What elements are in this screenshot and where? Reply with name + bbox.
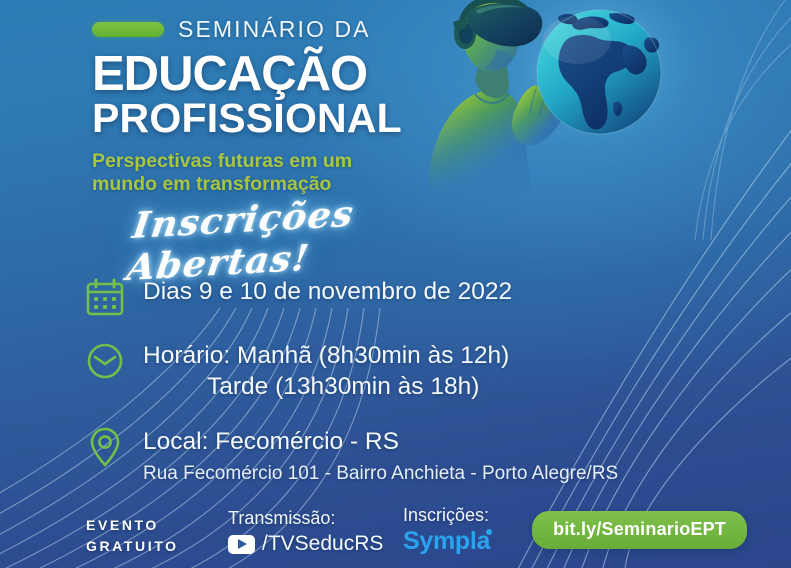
detail-body-location: Local: Fecomércio - RS Rua Fecomércio 10… [143,424,618,485]
tagline-line1: Perspectivas futuras em um [92,150,522,173]
detail-date-text: Dias 9 e 10 de novembro de 2022 [143,276,512,307]
location-pin-icon [84,426,126,468]
free-event-badge: EVENTO GRATUITO [86,515,179,556]
kicker-label: SEMINÁRIO DA [178,16,371,43]
broadcast-label: Transmissão: [228,508,383,529]
detail-body-date: Dias 9 e 10 de novembro de 2022 [143,274,512,307]
poster-canvas: SEMINÁRIO DA EDUCAÇÃO PROFISSIONAL Persp… [0,0,791,568]
clock-icon [84,340,126,382]
detail-location-venue: Local: Fecomércio - RS [143,426,618,457]
signup-label: Inscrições: [403,505,490,526]
sympla-dot-icon [486,529,492,535]
signup-block: Inscrições: Sympla [403,505,490,556]
event-details-list: Dias 9 e 10 de novembro de 2022 Horário:… [84,274,744,485]
detail-time-morning: Horário: Manhã (8h30min às 12h) [143,340,509,371]
sympla-wordmark: Sympla [403,527,490,555]
detail-time-afternoon: Tarde (13h30min às 18h) [143,371,509,402]
broadcast-block: Transmissão: /TVSeducRS [228,508,383,556]
page-title-line1: EDUCAÇÃO [92,52,522,98]
detail-location-address: Rua Fecomércio 101 - Bairro Anchieta - P… [143,463,618,485]
cta-link-badge[interactable]: bit.ly/SeminarioEPT [532,511,747,549]
footer-bar: EVENTO GRATUITO Transmissão: /TVSeducRS … [0,502,791,564]
broadcast-handle-row[interactable]: /TVSeducRS [228,532,383,556]
calendar-icon [84,276,126,318]
green-bar-icon [92,22,164,37]
headline-block: SEMINÁRIO DA EDUCAÇÃO PROFISSIONAL Persp… [92,12,522,249]
page-title-line2: PROFISSIONAL [92,99,522,137]
detail-row-time: Horário: Manhã (8h30min às 12h) Tarde (1… [84,338,744,402]
free-event-line1: EVENTO [86,515,179,535]
detail-body-time: Horário: Manhã (8h30min às 12h) Tarde (1… [143,338,509,402]
kicker-row: SEMINÁRIO DA [92,12,522,46]
detail-row-date: Dias 9 e 10 de novembro de 2022 [84,274,744,316]
youtube-play-icon[interactable] [228,535,255,554]
broadcast-handle[interactable]: /TVSeducRS [262,532,383,556]
free-event-line2: GRATUITO [86,536,179,556]
script-callout-wrap: Inscrições Abertas! [130,205,522,249]
detail-row-location: Local: Fecomércio - RS Rua Fecomércio 10… [84,424,744,485]
sympla-logo[interactable]: Sympla [403,527,490,556]
